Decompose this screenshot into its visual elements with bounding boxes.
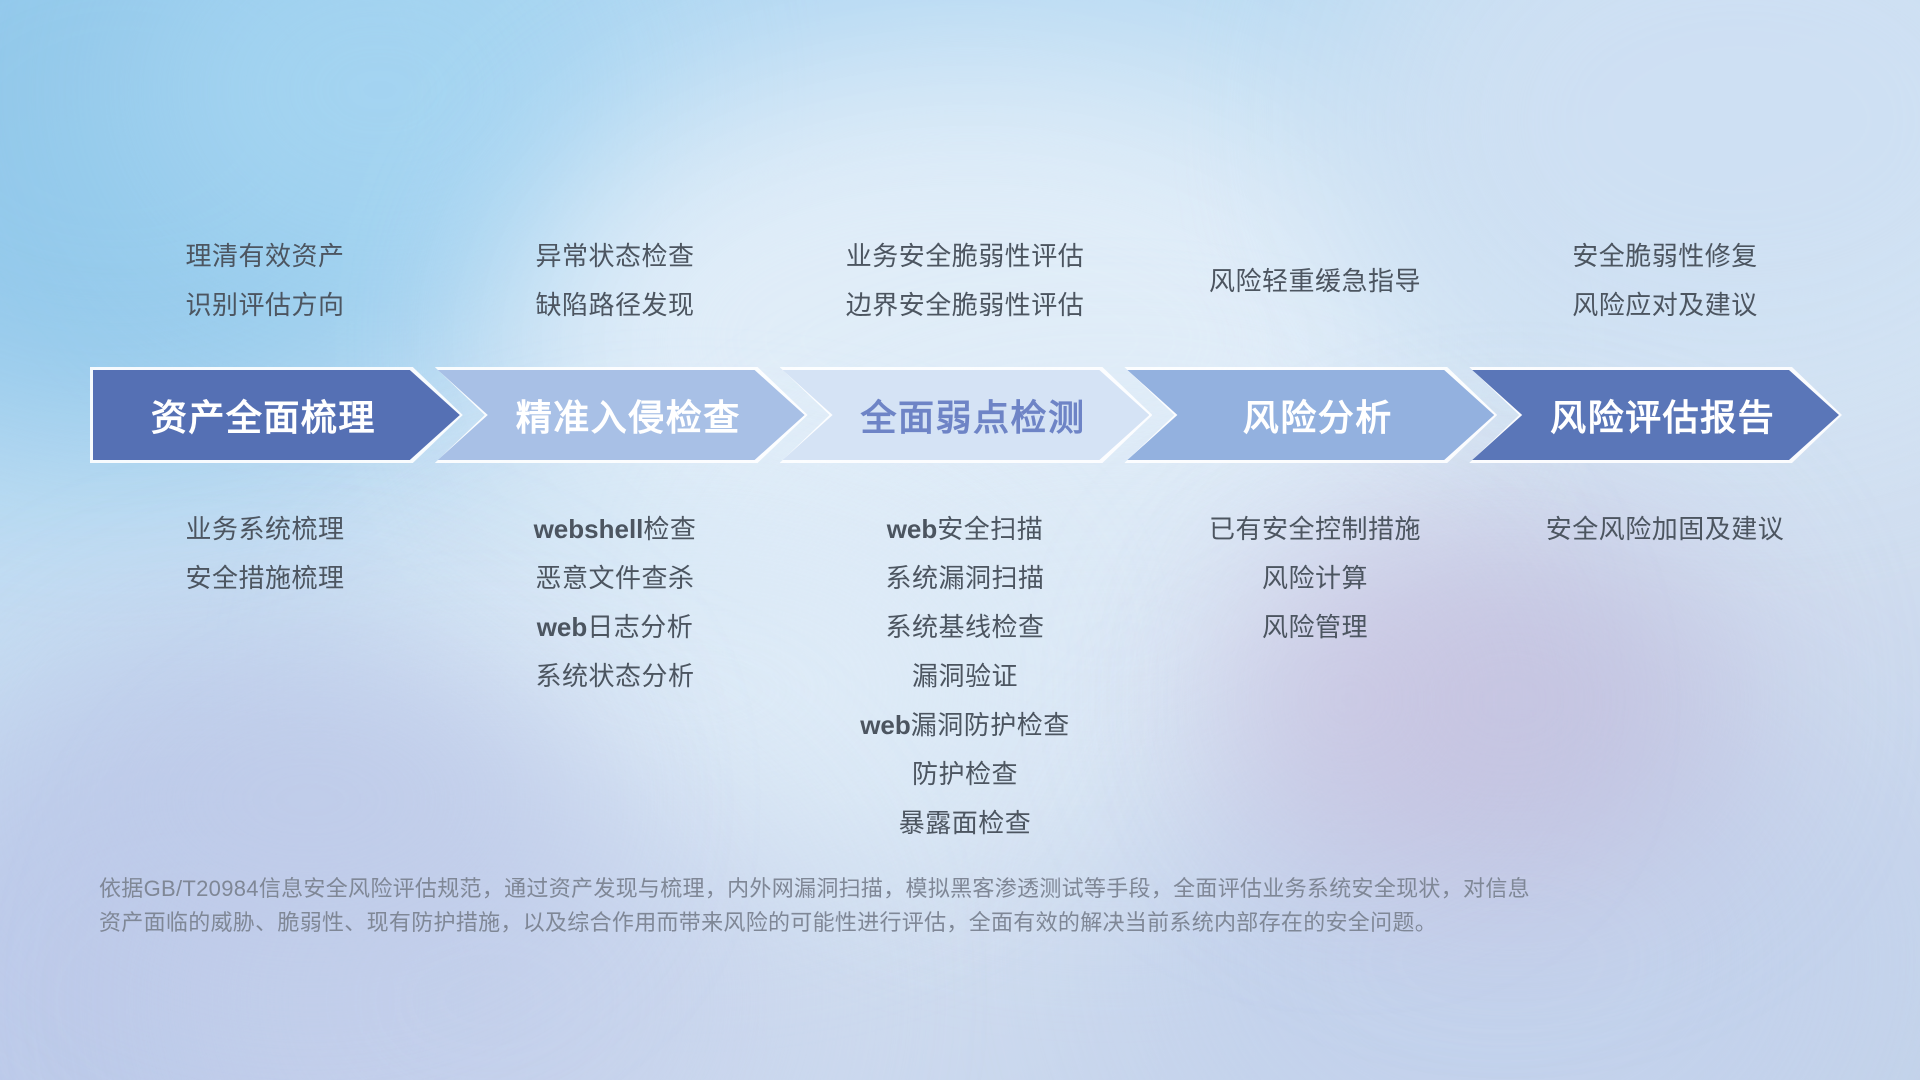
note-cjk: 防护检查 xyxy=(912,759,1018,789)
note-line: 已有安全控制措施 xyxy=(1209,505,1421,554)
note-line: 异常状态检查 xyxy=(535,232,694,281)
note-cjk: 漏洞防护检查 xyxy=(911,710,1070,740)
footnote-line-1: 依据GB/T20984信息安全风险评估规范，通过资产发现与梳理，内外网漏洞扫描，… xyxy=(99,872,1659,906)
note-cjk: 暴露面检查 xyxy=(899,808,1032,838)
process-arrow-banner: 资产全面梳理 精准入侵检查 全面弱点检测 风险分析 风险评估报告 xyxy=(90,367,1842,463)
note-cjk: 安全扫描 xyxy=(937,514,1043,544)
bottom-notes-col-4: 已有安全控制措施风险计算风险管理 xyxy=(1140,505,1490,845)
note-latin: web xyxy=(887,514,938,544)
bottom-notes-col-5: 安全风险加固及建议 xyxy=(1490,505,1840,845)
bottom-notes-col-1: 业务系统梳理安全措施梳理 xyxy=(90,505,440,845)
top-notes-col-5: 安全脆弱性修复风险应对及建议 xyxy=(1490,226,1840,336)
top-notes-col-3: 业务安全脆弱性评估边界安全脆弱性评估 xyxy=(790,226,1140,336)
note-cjk: 检查 xyxy=(643,514,696,544)
note-line: 识别评估方向 xyxy=(185,281,344,330)
stage-title-1: 资产全面梳理 xyxy=(151,389,402,441)
top-notes-col-2: 异常状态检查缺陷路径发现 xyxy=(440,226,790,336)
note-line: 业务系统梳理 xyxy=(185,505,344,554)
note-cjk: 系统状态分析 xyxy=(535,661,694,691)
note-line: 系统漏洞扫描 xyxy=(885,554,1044,603)
stage-arrow-4[interactable]: 风险分析 xyxy=(1124,367,1497,463)
note-line: 系统状态分析 xyxy=(535,652,694,701)
note-line: 漏洞验证 xyxy=(912,652,1018,701)
top-notes-col-4: 风险轻重缓急指导 xyxy=(1140,226,1490,336)
note-line: web安全扫描 xyxy=(887,505,1044,554)
stage-title-2: 精准入侵检查 xyxy=(502,389,741,441)
note-line: 恶意文件查杀 xyxy=(535,554,694,603)
note-line: 缺陷路径发现 xyxy=(535,281,694,330)
note-line: 安全措施梳理 xyxy=(185,554,344,603)
note-line: 安全脆弱性修复 xyxy=(1572,232,1758,281)
stage-arrow-3[interactable]: 全面弱点检测 xyxy=(780,367,1153,463)
note-cjk: 恶意文件查杀 xyxy=(535,563,694,593)
footnote-paragraph: 依据GB/T20984信息安全风险评估规范，通过资产发现与梳理，内外网漏洞扫描，… xyxy=(99,872,1659,940)
top-notes-col-1: 理清有效资产识别评估方向 xyxy=(90,226,440,336)
note-line: 风险计算 xyxy=(1262,554,1368,603)
footnote-line-2: 资产面临的威胁、脆弱性、现有防护措施，以及综合作用而带来风险的可能性进行评估，全… xyxy=(99,906,1659,940)
note-cjk: 系统基线检查 xyxy=(885,612,1044,642)
note-line: web日志分析 xyxy=(537,603,694,652)
stage-title-4: 风险分析 xyxy=(1229,389,1393,441)
note-cjk: 风险管理 xyxy=(1262,612,1368,642)
note-cjk: 已有安全控制措施 xyxy=(1209,514,1421,544)
note-line: 边界安全脆弱性评估 xyxy=(846,281,1085,330)
note-line: web漏洞防护检查 xyxy=(860,701,1070,750)
note-latin: web xyxy=(860,710,911,740)
bottom-notes-col-2: webshell检查恶意文件查杀web日志分析系统状态分析 xyxy=(440,505,790,845)
top-notes-row: 理清有效资产识别评估方向 异常状态检查缺陷路径发现 业务安全脆弱性评估边界安全脆… xyxy=(90,226,1840,336)
note-latin: webshell xyxy=(534,514,644,544)
stage-arrow-2[interactable]: 精准入侵检查 xyxy=(435,367,808,463)
bottom-notes-col-3: web安全扫描系统漏洞扫描系统基线检查漏洞验证web漏洞防护检查防护检查暴露面检… xyxy=(790,505,1140,845)
note-line: 业务安全脆弱性评估 xyxy=(846,232,1085,281)
stage-title-5: 风险评估报告 xyxy=(1536,389,1775,441)
stage-arrow-1[interactable]: 资产全面梳理 xyxy=(90,367,463,463)
note-cjk: 风险计算 xyxy=(1262,563,1368,593)
note-line: webshell检查 xyxy=(534,505,697,554)
note-line: 风险应对及建议 xyxy=(1572,281,1758,330)
stage-arrow-5[interactable]: 风险评估报告 xyxy=(1469,367,1842,463)
note-line: 风险管理 xyxy=(1262,603,1368,652)
stage-title-3: 全面弱点检测 xyxy=(846,389,1085,441)
note-cjk: 日志分析 xyxy=(587,612,693,642)
bottom-notes-row: 业务系统梳理安全措施梳理 webshell检查恶意文件查杀web日志分析系统状态… xyxy=(90,505,1840,845)
note-cjk: 漏洞验证 xyxy=(912,661,1018,691)
slide-content: 理清有效资产识别评估方向 异常状态检查缺陷路径发现 业务安全脆弱性评估边界安全脆… xyxy=(0,0,1920,1080)
note-line: 暴露面检查 xyxy=(899,799,1032,848)
slide-canvas: 理清有效资产识别评估方向 异常状态检查缺陷路径发现 业务安全脆弱性评估边界安全脆… xyxy=(0,0,1920,1080)
note-line: 理清有效资产 xyxy=(185,232,344,281)
note-line: 安全风险加固及建议 xyxy=(1546,505,1785,554)
note-cjk: 安全风险加固及建议 xyxy=(1546,514,1785,544)
note-cjk: 系统漏洞扫描 xyxy=(885,563,1044,593)
note-line: 系统基线检查 xyxy=(885,603,1044,652)
note-line: 风险轻重缓急指导 xyxy=(1209,257,1421,306)
note-line: 防护检查 xyxy=(912,750,1018,799)
note-latin: web xyxy=(537,612,588,642)
